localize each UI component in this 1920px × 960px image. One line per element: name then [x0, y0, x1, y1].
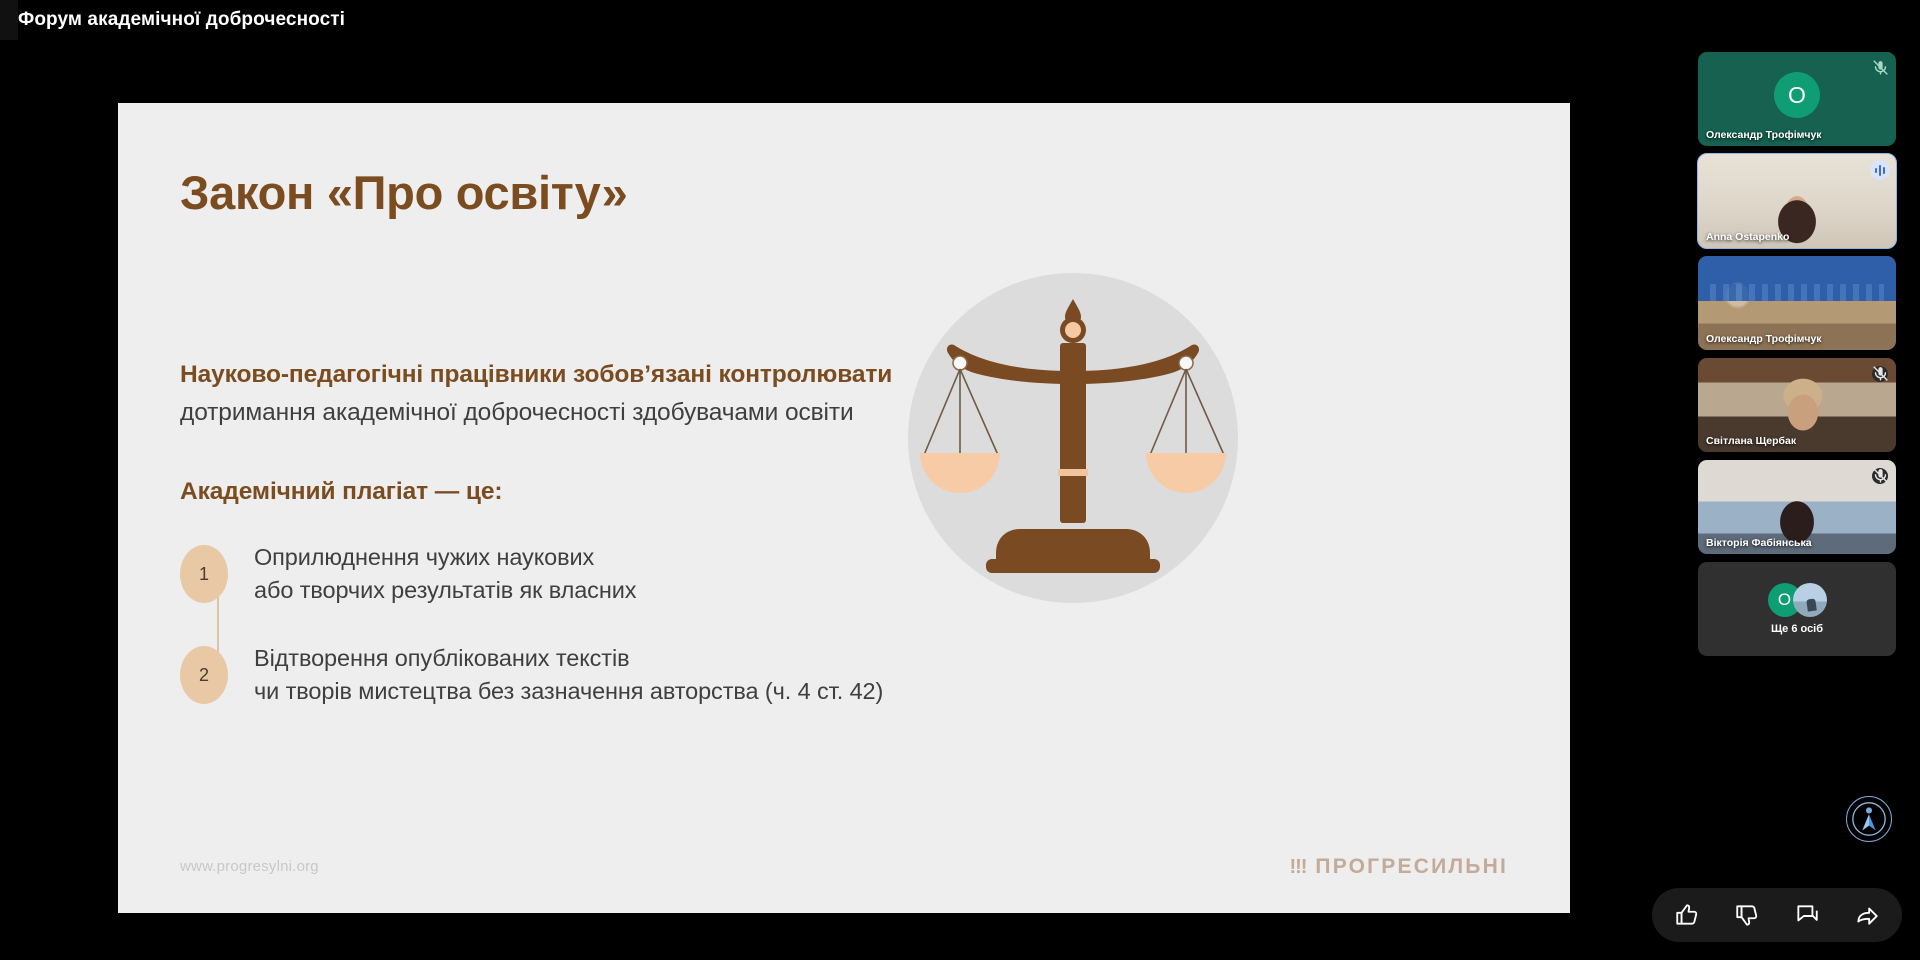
participant-tile[interactable]: Вікторія Фабіянська: [1698, 460, 1896, 554]
title-bar-accent: [0, 0, 18, 40]
list-item-line: Оприлюднення чужих наукових: [254, 541, 636, 574]
slide-subheading: Академічний плагіат — це:: [180, 478, 502, 506]
slide-title: Закон «Про освіту»: [180, 165, 627, 220]
logo-wordmark: ПРОГРЕСИЛЬНІ: [1315, 855, 1508, 879]
share-icon[interactable]: [1854, 902, 1880, 928]
action-bar: [1652, 888, 1902, 942]
presentation-slide: Закон «Про освіту» Науково-педагогічні п…: [118, 103, 1570, 913]
participant-tile[interactable]: Anna Ostapenko: [1698, 154, 1896, 248]
list-item-text: Відтворення опублікованих текстів чи тво…: [254, 642, 883, 709]
list-item-line: Відтворення опублікованих текстів: [254, 642, 883, 675]
slide-footer-url: www.progresylni.org: [180, 858, 319, 875]
mic-muted-icon: [1872, 467, 1889, 484]
app-root: Форум академічної доброчесності Закон «П…: [0, 0, 1920, 960]
shared-screen-frame: Закон «Про освіту» Науково-педагогічні п…: [118, 65, 1570, 913]
list-item-line: чи творів мистецтва без зазначення автор…: [254, 675, 883, 708]
participant-tile[interactable]: О Олександр Трофімчук: [1698, 52, 1896, 146]
slide-lead-bold: Науково-педагогічні працівники зобов’яза…: [180, 361, 892, 389]
logo-marks-icon: !!!: [1289, 856, 1306, 879]
participant-name: Вікторія Фабіянська: [1706, 537, 1812, 549]
plagiarism-definition-list: 1 Оприлюднення чужих наукових або творчи…: [180, 541, 1000, 708]
title-bar: Форум академічної доброчесності: [0, 0, 1920, 40]
more-participants-label: Ще 6 осіб: [1771, 623, 1823, 635]
thumbs-up-icon[interactable]: [1674, 902, 1700, 928]
list-item: 2 Відтворення опублікованих текстів чи т…: [180, 642, 1000, 709]
channel-logo-icon[interactable]: [1846, 796, 1892, 842]
thumbs-down-icon[interactable]: [1734, 902, 1760, 928]
participant-name: Олександр Трофімчук: [1706, 333, 1822, 345]
avatar: [1793, 583, 1827, 617]
list-item-text: Оприлюднення чужих наукових або творчих …: [254, 541, 636, 608]
window-title: Форум академічної доброчесності: [18, 9, 345, 31]
list-bullet-number: 1: [180, 545, 228, 603]
comment-icon[interactable]: [1794, 902, 1820, 928]
slide-lead-regular: дотримання академічної доброчесності здо…: [180, 399, 854, 427]
participant-name: Anna Ostapenko: [1706, 231, 1789, 243]
participant-name: Світлана Щербак: [1706, 435, 1796, 447]
mic-muted-icon: [1872, 59, 1889, 76]
scales-of-justice-icon: [908, 273, 1238, 603]
list-item-line: або творчих результатів як власних: [254, 574, 636, 607]
more-participants-tile[interactable]: О Ще 6 осіб: [1698, 562, 1896, 656]
participant-tile[interactable]: Світлана Щербак: [1698, 358, 1896, 452]
avatar: О: [1774, 72, 1820, 118]
video-stage[interactable]: Закон «Про освіту» Науково-педагогічні п…: [0, 40, 1690, 960]
more-participants-avatars: О: [1768, 583, 1827, 617]
list-item: 1 Оприлюднення чужих наукових або творчи…: [180, 541, 1000, 608]
mic-muted-icon: [1872, 365, 1889, 382]
slide-footer-logo: !!! ПРОГРЕСИЛЬНІ: [1289, 855, 1508, 879]
list-bullet-number: 2: [180, 646, 228, 704]
participant-tile[interactable]: Олександр Трофімчук: [1698, 256, 1896, 350]
participant-name: Олександр Трофімчук: [1706, 129, 1822, 141]
speaking-indicator-icon: [1870, 160, 1890, 180]
